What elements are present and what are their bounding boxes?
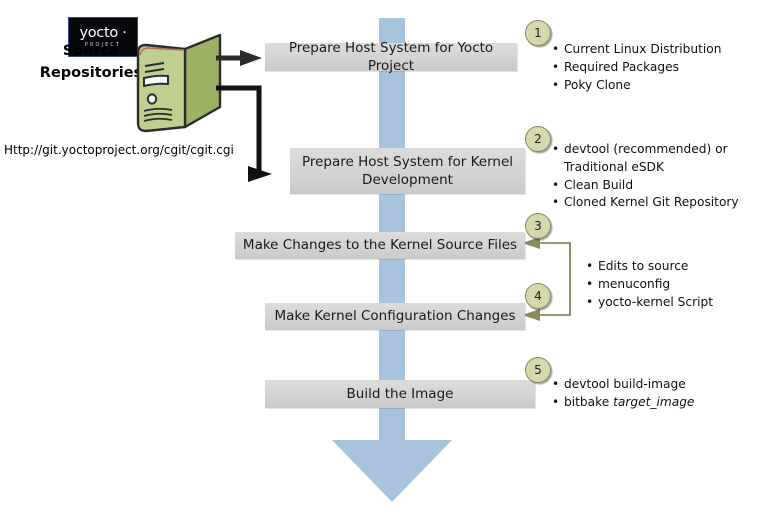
step-number-3: 3	[525, 213, 551, 239]
step-box-5[interactable]: Build the Image	[265, 380, 535, 408]
step-number-2-value: 2	[534, 132, 542, 146]
step-number-3-value: 3	[534, 219, 542, 233]
bullet-item: Edits to source	[586, 258, 766, 276]
step-number-5: 5	[525, 357, 551, 383]
step-box-3-label: Make Changes to the Kernel Source Files	[243, 236, 517, 254]
step-box-4-label: Make Kernel Configuration Changes	[274, 307, 515, 325]
step-box-2[interactable]: Prepare Host System for Kernel Developme…	[290, 148, 525, 194]
step-1-bullets: Current Linux Distribution Required Pack…	[552, 41, 757, 94]
step-number-4: 4	[525, 283, 551, 309]
bullet-item: devtool (recommended) or Traditional eSD…	[552, 141, 757, 177]
bullet-item: Cloned Kernel Git Repository	[552, 194, 757, 212]
bullet-item: bitbake target_image	[552, 394, 752, 412]
step-number-2: 2	[525, 126, 551, 152]
step-number-4-value: 4	[534, 289, 542, 303]
step-box-4[interactable]: Make Kernel Configuration Changes	[265, 303, 525, 330]
step-box-1-label: Prepare Host System for Yocto Project	[265, 39, 517, 75]
diagram-canvas: yocto · PROJECT Source Repositories Http…	[0, 0, 769, 517]
step-box-3[interactable]: Make Changes to the Kernel Source Files	[235, 232, 525, 259]
step-number-1-value: 1	[534, 26, 542, 40]
step-2-bullets: devtool (recommended) or Traditional eSD…	[552, 141, 757, 212]
bullet-item: menuconfig	[586, 276, 766, 294]
steps-3-4-shared-bullets: Edits to source menuconfig yocto-kernel …	[586, 258, 766, 311]
bullet-item: devtool build-image	[552, 376, 752, 394]
bullet-item: Required Packages	[552, 59, 757, 77]
bullet-item: Poky Clone	[552, 77, 757, 95]
bullet-item: yocto-kernel Script	[586, 294, 766, 312]
step-5-bullets: devtool build-image bitbake target_image	[552, 376, 752, 412]
bullet-5-2-command: bitbake	[564, 395, 613, 409]
step-number-1: 1	[525, 20, 551, 46]
step-box-1[interactable]: Prepare Host System for Yocto Project	[265, 43, 517, 71]
bullet-5-2-argument: target_image	[613, 395, 694, 409]
bullet-item: Clean Build	[552, 177, 757, 195]
step-box-5-label: Build the Image	[347, 385, 454, 403]
step-number-5-value: 5	[534, 363, 542, 377]
bullet-item: Current Linux Distribution	[552, 41, 757, 59]
step-box-2-label: Prepare Host System for Kernel Developme…	[302, 153, 513, 189]
